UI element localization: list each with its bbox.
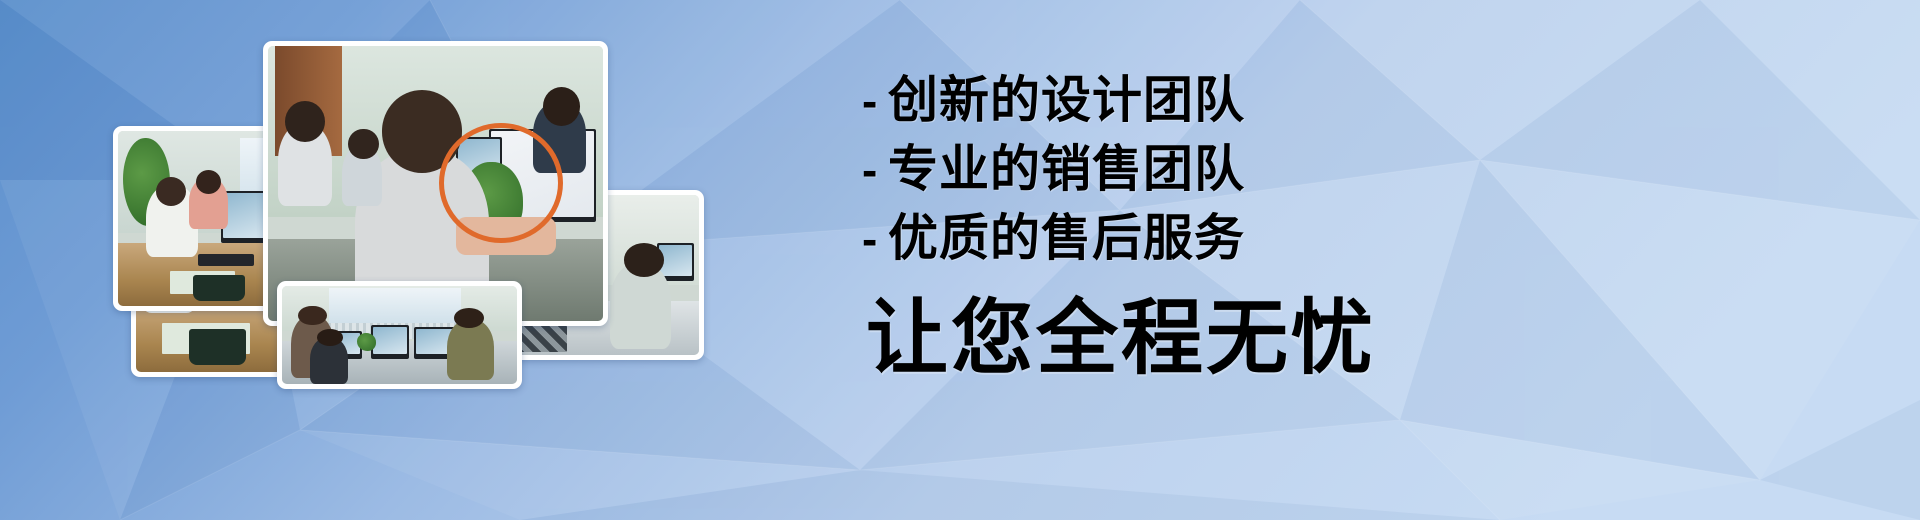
photo-center-image — [268, 46, 603, 321]
bullet-dash-icon: - — [862, 136, 888, 204]
feature-bullet-2-text: 专业的销售团队 — [888, 135, 1245, 203]
photo-mid-bottom — [277, 281, 522, 389]
feature-bullet-1: - 创新的设计团队 — [862, 66, 1482, 135]
feature-bullet-2: - 专业的销售团队 — [862, 135, 1482, 204]
banner-copy: - 创新的设计团队 - 专业的销售团队 - 优质的售后服务 让您全程无忧 — [862, 66, 1482, 387]
feature-bullet-1-text: 创新的设计团队 — [888, 66, 1245, 134]
feature-bullet-list: - 创新的设计团队 - 专业的销售团队 - 优质的售后服务 — [862, 66, 1482, 273]
banner-headline: 让您全程无忧 — [862, 291, 1482, 387]
feature-bullet-3-text: 优质的售后服务 — [888, 204, 1245, 272]
bullet-dash-icon: - — [862, 205, 888, 273]
bullet-dash-icon: - — [862, 67, 888, 135]
feature-bullet-3: - 优质的售后服务 — [862, 204, 1482, 273]
photo-mid-bottom-image — [282, 286, 517, 384]
promo-banner: - 创新的设计团队 - 专业的销售团队 - 优质的售后服务 让您全程无忧 — [0, 0, 1920, 520]
photo-collage — [0, 0, 760, 520]
